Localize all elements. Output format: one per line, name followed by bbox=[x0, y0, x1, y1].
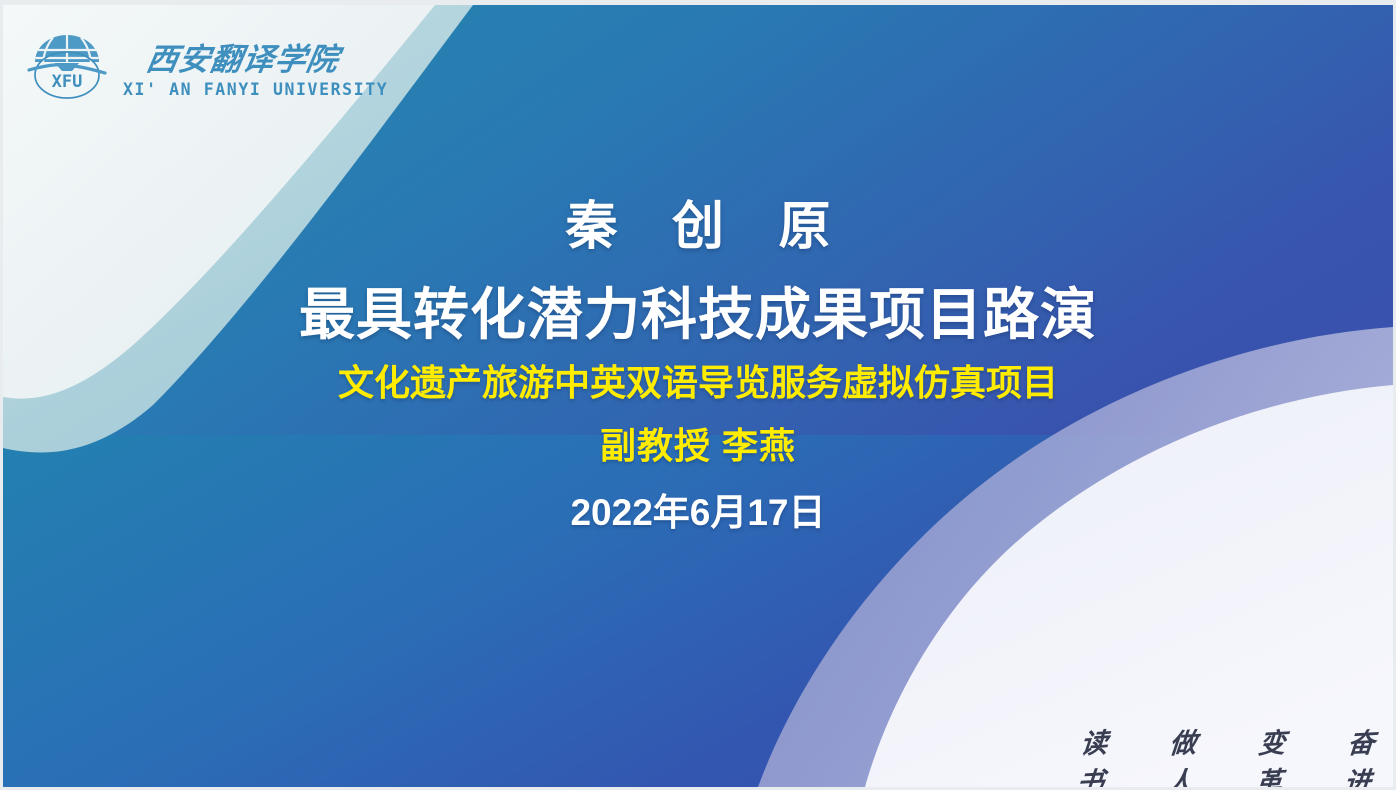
motto-word: 读书 bbox=[1075, 720, 1129, 787]
background-decoration bbox=[3, 5, 1393, 787]
xfu-globe-icon: XFU bbox=[25, 29, 109, 107]
university-name-cn: 西安翻译学院 bbox=[123, 38, 388, 80]
university-name-en: XI' AN FANYI UNIVERSITY bbox=[123, 82, 388, 99]
slide-canvas: XFU 西安翻译学院 XI' AN FANYI UNIVERSITY 秦 创 原… bbox=[3, 5, 1393, 787]
logo-wordmark: 西安翻译学院 XI' AN FANYI UNIVERSITY bbox=[123, 38, 388, 99]
xfu-monogram-text: XFU bbox=[52, 72, 83, 92]
presentation-slide: XFU 西安翻译学院 XI' AN FANYI UNIVERSITY 秦 创 原… bbox=[0, 0, 1396, 790]
motto-word: 奋进 bbox=[1342, 720, 1393, 787]
university-logo: XFU 西安翻译学院 XI' AN FANYI UNIVERSITY bbox=[25, 29, 388, 107]
university-motto: 读书 做人 变革 奋进 bbox=[1079, 721, 1393, 787]
university-name-cn-text: 西安翻译学院 bbox=[144, 42, 346, 78]
motto-word: 做人 bbox=[1164, 720, 1218, 787]
motto-word: 变革 bbox=[1253, 720, 1307, 787]
